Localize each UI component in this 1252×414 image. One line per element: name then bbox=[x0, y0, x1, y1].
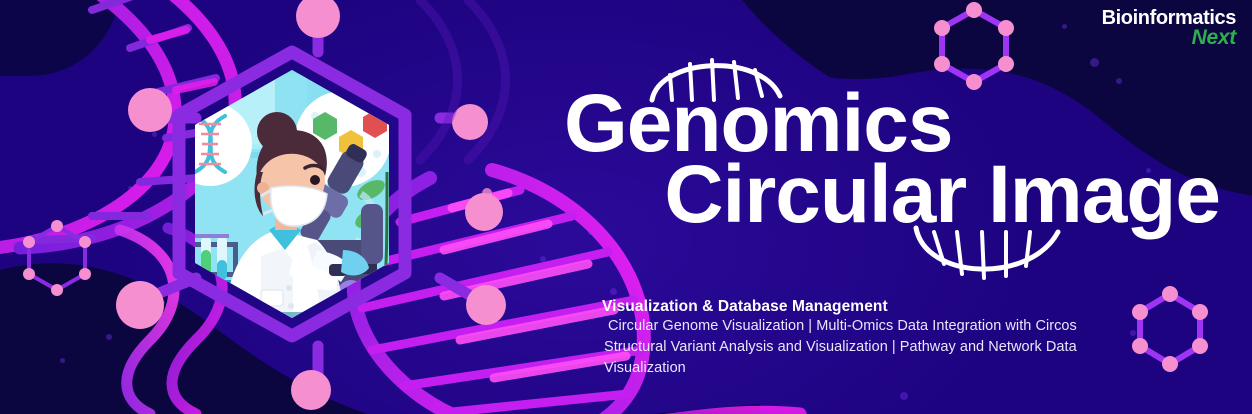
molecule-hexagon-top-right bbox=[934, 2, 1014, 90]
title-block: Genomics Circular Image bbox=[560, 86, 1240, 233]
logo-secondary-text: Next bbox=[1102, 27, 1236, 48]
logo-primary-text: Bioinformatics bbox=[1102, 8, 1236, 28]
pink-circle-top bbox=[296, 0, 340, 38]
subtitle-line-1: Circular Genome Visualization | Multi-Om… bbox=[602, 316, 1162, 337]
hair-bun bbox=[257, 112, 297, 152]
pink-dot-small bbox=[482, 188, 492, 198]
pink-circle-right-bottom bbox=[466, 285, 506, 325]
logo[interactable]: Bioinformatics Next bbox=[1102, 8, 1236, 49]
pink-circle-bottom bbox=[291, 370, 331, 410]
pink-circle-left-bottom bbox=[116, 281, 164, 329]
lab-scene bbox=[165, 44, 420, 344]
illustration-hexagon bbox=[165, 44, 420, 344]
subtitle-heading: Visualization & Database Management bbox=[602, 298, 1162, 316]
banner-root: Genomics Circular Image Visualization & … bbox=[0, 0, 1252, 414]
subtitle-block: Visualization & Database Management Circ… bbox=[602, 298, 1162, 379]
subtitle-line-2: Structural Variant Analysis and Visualiz… bbox=[602, 337, 1162, 379]
pink-circle-mid bbox=[465, 193, 503, 231]
